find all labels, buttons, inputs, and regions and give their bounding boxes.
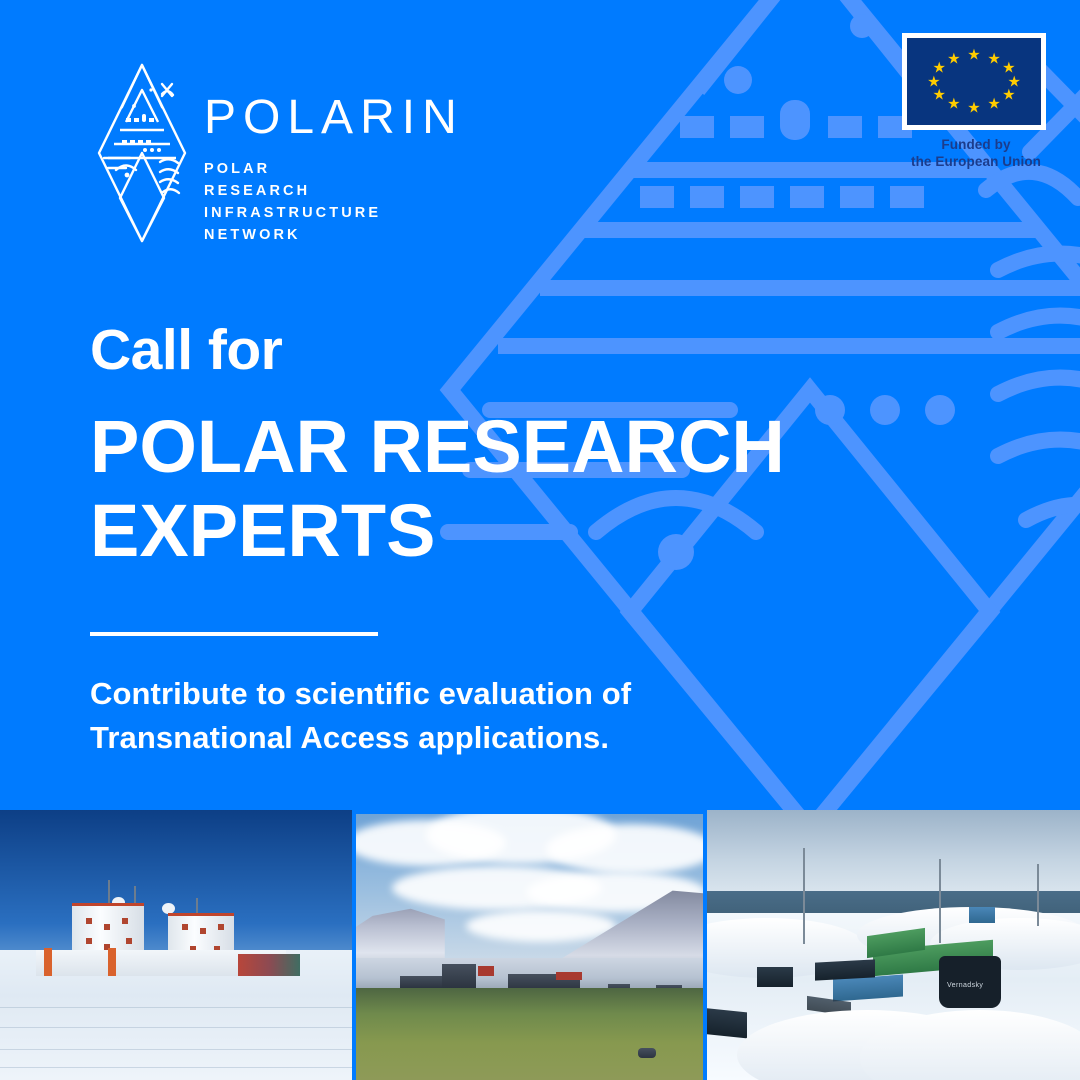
eu-caption-line-1: Funded by: [902, 136, 1050, 153]
polarin-diamond-icon: [96, 62, 188, 244]
subheadline-line-1: Contribute to scientific evaluation of: [90, 676, 631, 711]
main-copy-block: Call for POLAR RESEARCH EXPERTS Contribu…: [90, 322, 790, 760]
polarin-brand-lockup: POLARIN POLAR RESEARCH INFRASTRUCTURE NE…: [96, 62, 464, 246]
brand-tagline-line-4: NETWORK: [204, 224, 464, 246]
brand-tagline-line-2: RESEARCH: [204, 180, 464, 202]
headline-line-2: EXPERTS: [90, 489, 435, 572]
eu-star-icon: ★: [947, 97, 960, 112]
poster-canvas: POLARIN POLAR RESEARCH INFRASTRUCTURE NE…: [0, 0, 1080, 1080]
divider-rule: [90, 632, 378, 636]
eu-flag-icon: ★★★★★★★★★★★★: [902, 33, 1046, 130]
eu-star-icon: ★: [1002, 87, 1015, 102]
photo-antarctic-coastal-base-vernadsky: Vernadsky: [707, 810, 1080, 1080]
kicker-text: Call for: [90, 322, 790, 379]
photo-antarctic-station-concordia: [0, 810, 352, 1080]
eu-star-icon: ★: [967, 100, 980, 115]
brand-tagline-line-3: INFRASTRUCTURE: [204, 202, 464, 224]
eu-star-icon: ★: [947, 51, 960, 66]
eu-caption: Funded by the European Union: [902, 136, 1050, 171]
subheadline-line-2: Transnational Access applications.: [90, 720, 609, 755]
eu-caption-line-2: the European Union: [902, 153, 1050, 170]
eu-funding-badge: ★★★★★★★★★★★★ Funded by the European Unio…: [902, 33, 1050, 171]
brand-wordmark: POLARIN: [204, 94, 464, 142]
brand-tagline: POLAR RESEARCH INFRASTRUCTURE NETWORK: [204, 158, 464, 246]
photo-strip: Vernadsky: [0, 808, 1080, 1080]
page-title: POLAR RESEARCH EXPERTS: [90, 405, 790, 574]
eu-star-icon: ★: [932, 61, 945, 76]
eu-star-icon: ★: [987, 97, 1000, 112]
headline-line-1: POLAR RESEARCH: [90, 405, 785, 488]
photo-subarctic-station-tundra: [356, 814, 703, 1080]
brand-tagline-line-1: POLAR: [204, 158, 464, 180]
subheadline: Contribute to scientific evaluation of T…: [90, 672, 790, 760]
eu-star-icon: ★: [987, 51, 1000, 66]
eu-star-icon: ★: [967, 48, 980, 63]
